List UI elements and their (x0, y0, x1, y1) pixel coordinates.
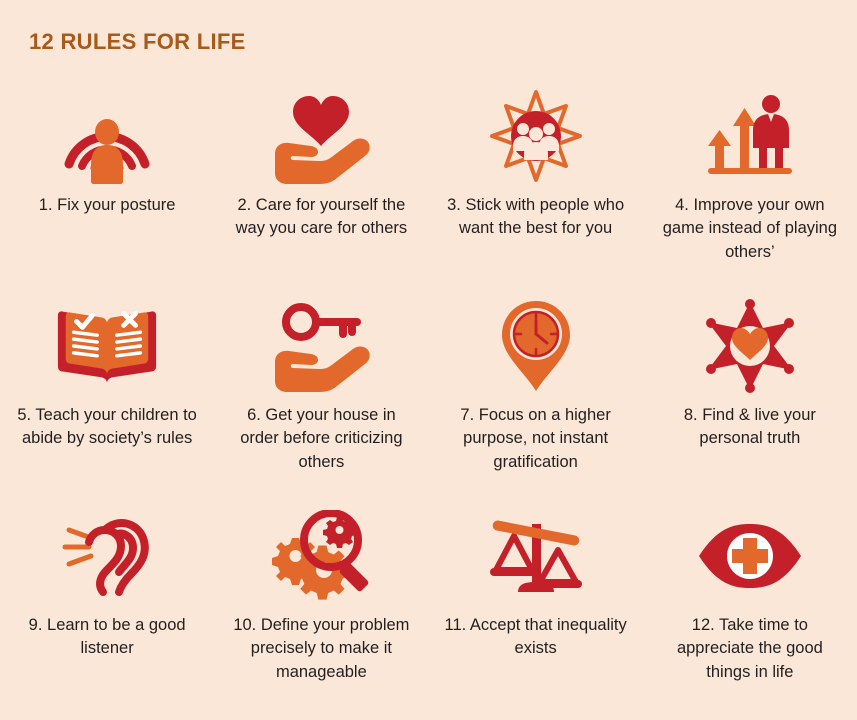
rule-item-3: 3. Stick with people who want the best f… (429, 86, 643, 296)
sheriff-star-heart-icon (695, 296, 805, 396)
rule-caption: 5. Teach your children to abide by socie… (12, 404, 202, 451)
rule-item-8: 8. Find & live your personal truth (643, 296, 857, 506)
magnifier-gears-icon (266, 506, 376, 606)
rule-caption: 4. Improve your own game instead of play… (655, 194, 845, 264)
rule-caption: 1. Fix your posture (39, 194, 176, 217)
open-book-rules-icon (52, 296, 162, 396)
rule-item-12: 12. Take time to appreciate the good thi… (643, 506, 857, 716)
rule-item-9: 9. Learn to be a good listener (0, 506, 214, 716)
ear-listening-icon (52, 506, 162, 606)
rule-caption: 7. Focus on a higher purpose, not instan… (441, 404, 631, 474)
infographic-poster: 12 RULES FOR LIFE 1. Fix your posture (0, 0, 857, 720)
rules-grid: 1. Fix your posture 2. Care for yourself… (0, 86, 857, 716)
rule-item-5: 5. Teach your children to abide by socie… (0, 296, 214, 506)
rule-item-10: 10. Define your problem precisely to mak… (214, 506, 428, 716)
rule-caption: 9. Learn to be a good listener (12, 614, 202, 661)
clock-map-pin-icon (481, 296, 591, 396)
hand-holding-key-icon (266, 296, 376, 396)
rule-caption: 2. Care for yourself the way you care fo… (226, 194, 416, 241)
eye-plus-icon (695, 506, 805, 606)
rule-caption: 12. Take time to appreciate the good thi… (655, 614, 845, 684)
rule-item-4: 4. Improve your own game instead of play… (643, 86, 857, 296)
growth-arrows-person-icon (695, 86, 805, 186)
hand-holding-heart-icon (266, 86, 376, 186)
rule-caption: 6. Get your house in order before critic… (226, 404, 416, 474)
rule-item-11: 11. Accept that inequality exists (429, 506, 643, 716)
unbalanced-scales-icon (481, 506, 591, 606)
rule-item-2: 2. Care for yourself the way you care fo… (214, 86, 428, 296)
rule-caption: 8. Find & live your personal truth (655, 404, 845, 451)
rule-item-6: 6. Get your house in order before critic… (214, 296, 428, 506)
rule-item-1: 1. Fix your posture (0, 86, 214, 296)
people-group-star-icon (481, 86, 591, 186)
rule-caption: 3. Stick with people who want the best f… (441, 194, 631, 241)
rule-caption: 10. Define your problem precisely to mak… (226, 614, 416, 684)
rule-caption: 11. Accept that inequality exists (441, 614, 631, 661)
rule-item-7: 7. Focus on a higher purpose, not instan… (429, 296, 643, 506)
posture-person-icon (52, 86, 162, 186)
page-title: 12 RULES FOR LIFE (29, 31, 246, 53)
